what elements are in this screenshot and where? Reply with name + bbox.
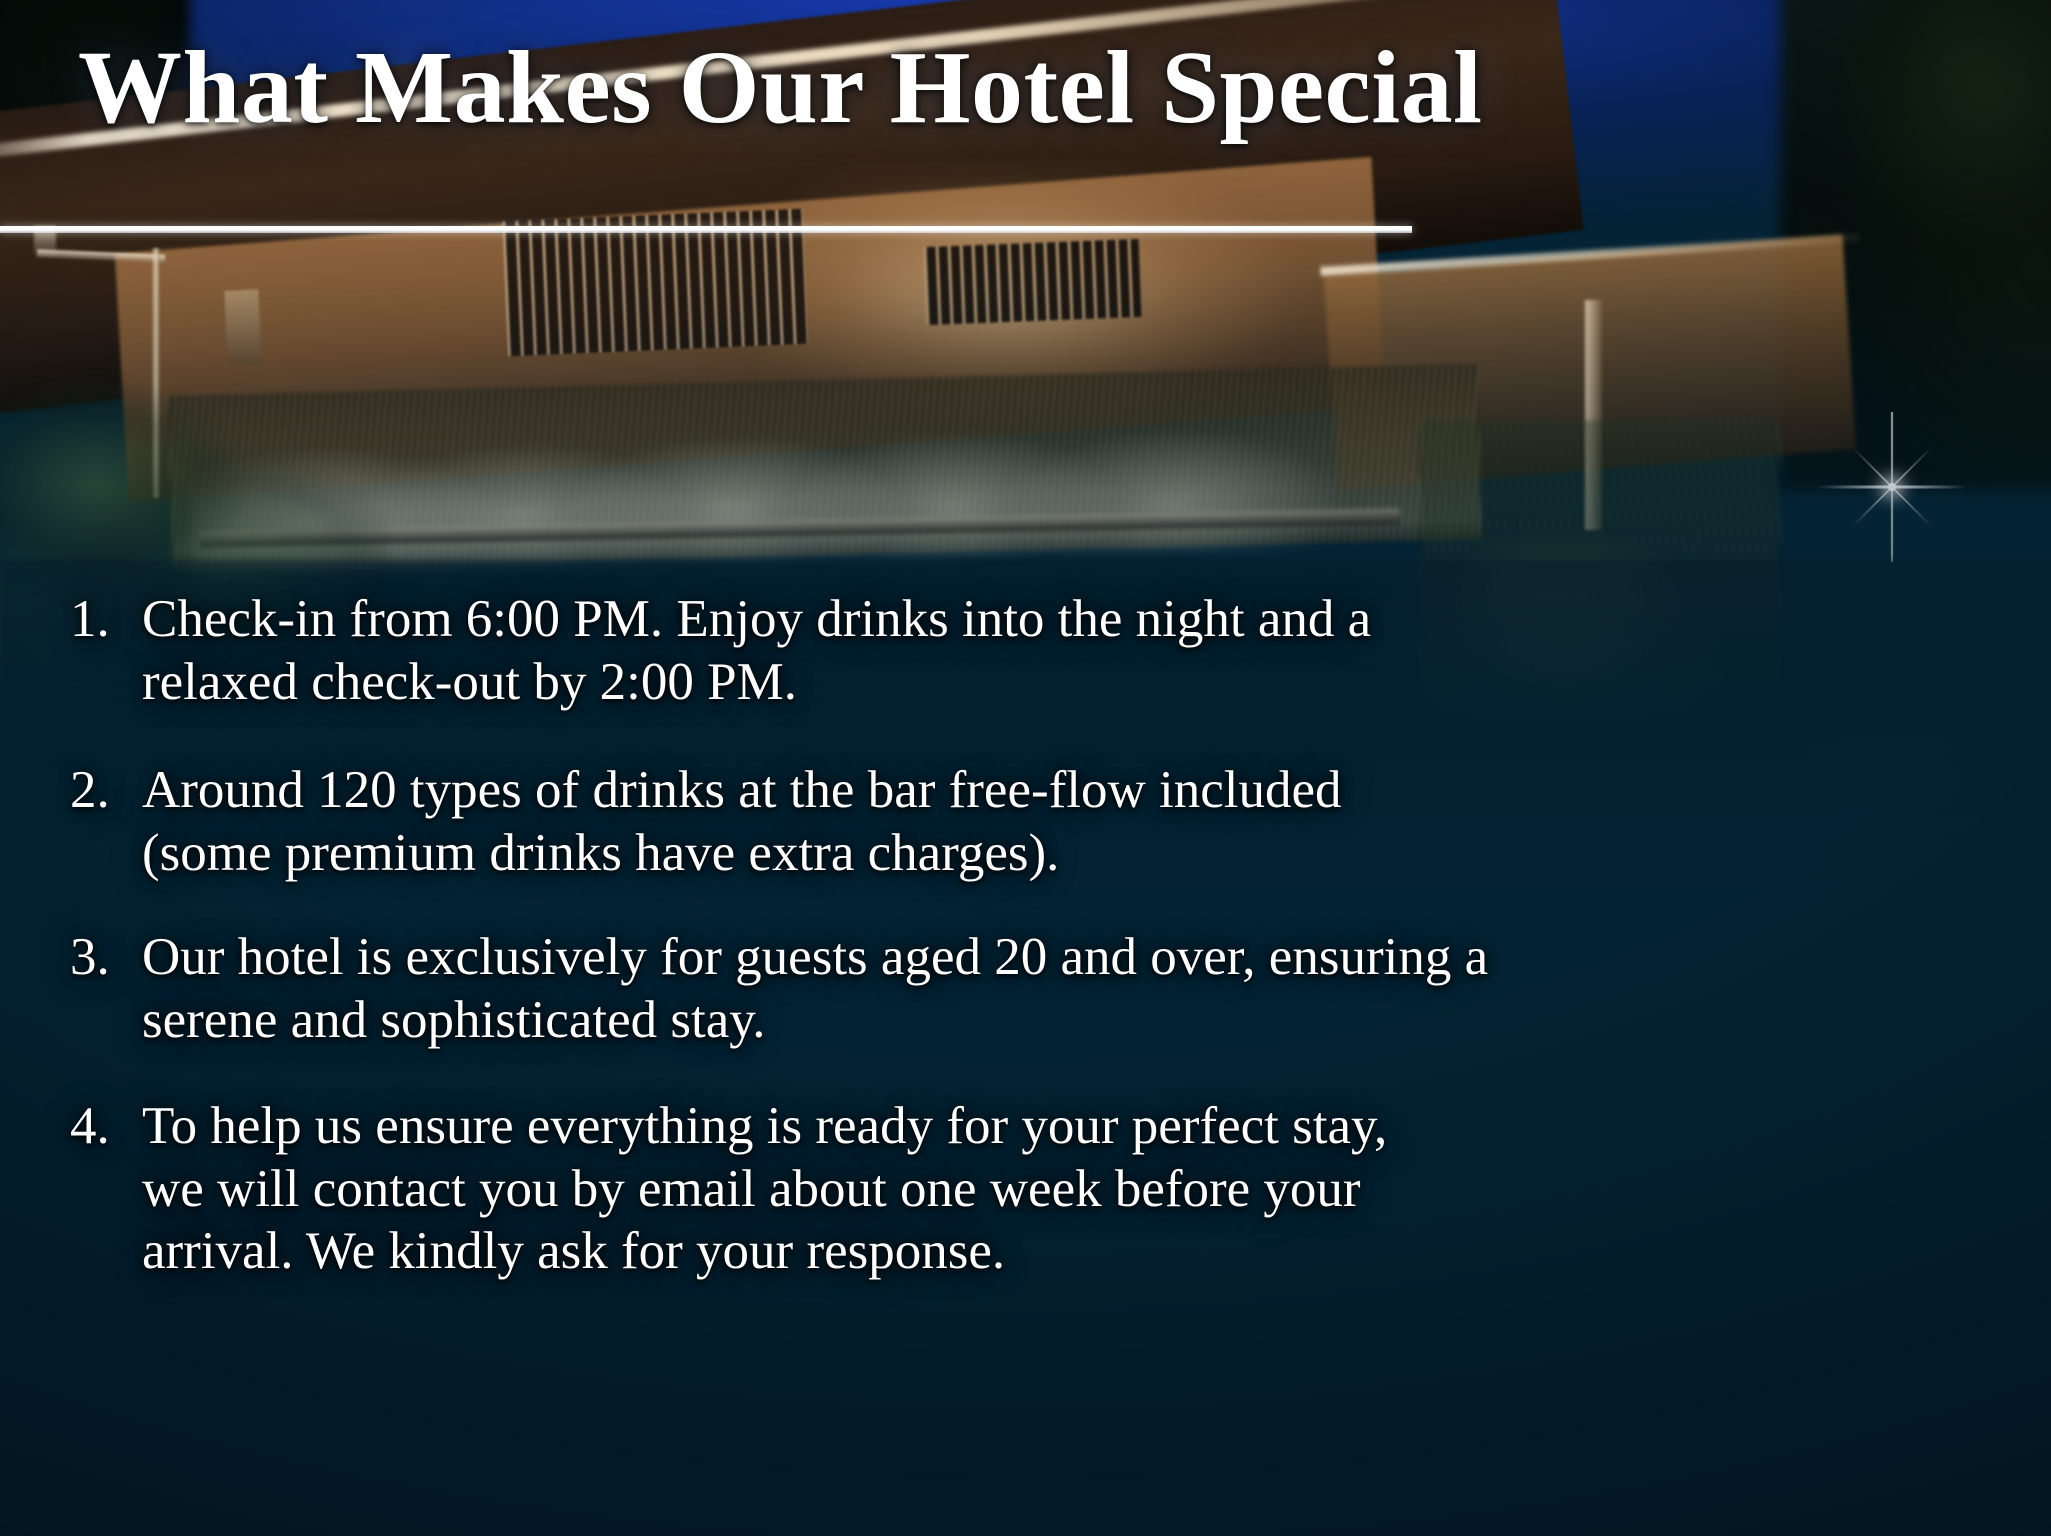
list-item-number: 3. (70, 926, 142, 989)
list-item-text: To help us ensure everything is ready fo… (142, 1095, 2000, 1283)
slide-content: What Makes Our Hotel Special 1. Check-in… (0, 0, 2051, 1536)
list-item: 4. To help us ensure everything is ready… (70, 1095, 2000, 1283)
list-item: 2. Around 120 types of drinks at the bar… (70, 759, 2000, 884)
list-item: 3. Our hotel is exclusively for guests a… (70, 926, 2000, 1051)
list-item-number: 1. (70, 588, 142, 651)
title-underline-rule (0, 226, 1412, 233)
list-item-number: 2. (70, 759, 142, 822)
page-title: What Makes Our Hotel Special (78, 28, 1483, 148)
list-item-number: 4. (70, 1095, 142, 1158)
list-item: 1. Check-in from 6:00 PM. Enjoy drinks i… (70, 588, 2000, 713)
list-item-text: Around 120 types of drinks at the bar fr… (142, 759, 2000, 884)
list-item-text: Check-in from 6:00 PM. Enjoy drinks into… (142, 588, 2000, 713)
numbered-list: 1. Check-in from 6:00 PM. Enjoy drinks i… (70, 588, 2000, 1315)
presentation-slide: What Makes Our Hotel Special 1. Check-in… (0, 0, 2051, 1536)
list-item-text: Our hotel is exclusively for guests aged… (142, 926, 2000, 1051)
